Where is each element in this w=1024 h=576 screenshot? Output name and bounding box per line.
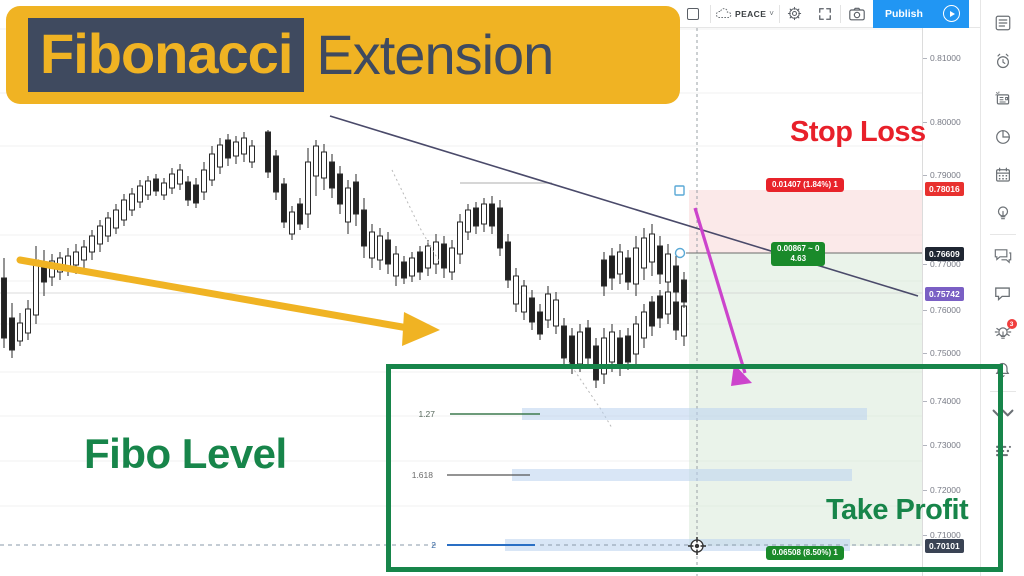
account-selector[interactable]: PEACE ˅ [711,0,779,28]
title-word-1: Fibonacci [40,26,292,82]
trading-chart-screen: 1.27 1.618 2 [0,0,1024,576]
sidebar-item-hotlist[interactable] [981,432,1024,470]
stop-loss-annotation: Stop Loss [790,116,926,149]
fullscreen-icon [818,7,832,21]
entry-label-line1: 0.00867 ~ 0 [777,244,819,253]
snapshot-button[interactable] [841,0,873,28]
play-icon [943,5,960,22]
axis-tick: 0.75000 [923,348,981,358]
axis-tick-label: 0.73000 [930,440,961,450]
sidebar-divider [990,234,1016,235]
camera-icon [849,7,865,21]
hotlist-icon [994,442,1012,460]
calendar-icon [994,166,1012,184]
gear-icon [787,6,802,21]
chart-toolbar: PEACE ˅ Publish [676,0,1024,28]
axis-tick-label: 0.74000 [930,396,961,406]
chart-canvas: 1.27 1.618 2 [0,28,936,576]
sidebar-item-stream-manager[interactable] [981,394,1024,432]
sidebar-item-alerts[interactable] [981,42,1024,80]
sidebar-item-broadcast[interactable]: 3 [981,313,1024,351]
axis-tick: 0.79000 [923,170,981,180]
svg-text:2: 2 [431,540,436,550]
entry-price-pill[interactable]: 0.75742 [925,287,964,301]
axis-tick: 0.80000 [923,117,981,127]
candlesticks [2,130,687,428]
axis-tick: 0.73000 [923,440,981,450]
public-chat-icon [993,247,1013,265]
sidebar-item-calendar[interactable] [981,156,1024,194]
sidebar-divider [990,391,1016,392]
stop-loss-price-pill[interactable]: 0.78016 [925,182,964,196]
sidebar-item-watchlist[interactable] [981,4,1024,42]
axis-tick: 0.74000 [923,396,981,406]
cloud-icon [716,8,732,20]
axis-tick-label: 0.79000 [930,170,961,180]
play-button[interactable] [935,0,969,28]
data-window-icon [994,128,1012,146]
axis-tick: 0.81000 [923,53,981,63]
publish-button[interactable]: Publish [873,0,935,28]
axis-tick-label: 0.80000 [930,117,961,127]
svg-text:1.27: 1.27 [418,409,435,419]
settings-button[interactable] [780,0,810,28]
price-chart[interactable]: 1.27 1.618 2 [0,28,936,576]
alerts-clock-icon [994,52,1012,70]
axis-tick-label: 0.81000 [930,53,961,63]
watchlist-icon [994,14,1012,32]
stream-manager-icon [992,405,1014,421]
axis-tick-label: 0.75000 [930,348,961,358]
sidebar-item-data-window[interactable] [981,118,1024,156]
entry-pnl-label[interactable]: 0.00867 ~ 0 4.63 [771,242,825,266]
axis-tick-label: 0.76000 [930,305,961,315]
right-sidebar: 3 [980,0,1024,576]
square-icon [687,8,699,20]
sidebar-item-news[interactable] [981,80,1024,118]
fibo-level-annotation: Fibo Level [84,430,287,478]
entry-label-line2: 4.63 [790,254,806,263]
notifications-bell-icon [994,361,1011,379]
take-profit-pnl-label[interactable]: 0.06508 (8.50%) 1 [766,546,844,560]
stop-loss-pnl-label[interactable]: 0.01407 (1.84%) 1 [766,178,844,192]
chevron-down-icon: ˅ [769,9,774,18]
account-label: PEACE [735,9,766,19]
layout-square-button[interactable] [676,0,710,28]
svg-text:1.618: 1.618 [412,470,434,480]
ideas-bulb-icon [994,204,1012,222]
private-chat-icon [993,285,1012,303]
axis-tick: 0.76000 [923,305,981,315]
title-word-1-box: Fibonacci [28,18,304,92]
take-profit-annotation: Take Profit [826,494,968,527]
fullscreen-button[interactable] [810,0,840,28]
sidebar-item-notifications[interactable] [981,351,1024,389]
title-banner: Fibonacci Extension [6,6,680,104]
broadcast-badge: 3 [1007,319,1017,329]
title-word-2: Extension [304,18,553,92]
take-profit-price-pill[interactable]: 0.70101 [925,539,964,553]
sidebar-item-private-chat[interactable] [981,275,1024,313]
last-price-pill[interactable]: 0.76609 [925,247,964,261]
yellow-arrow-annotation [20,260,440,346]
sidebar-item-ideas[interactable] [981,194,1024,232]
sidebar-item-public-chat[interactable] [981,237,1024,275]
news-icon [994,90,1012,108]
